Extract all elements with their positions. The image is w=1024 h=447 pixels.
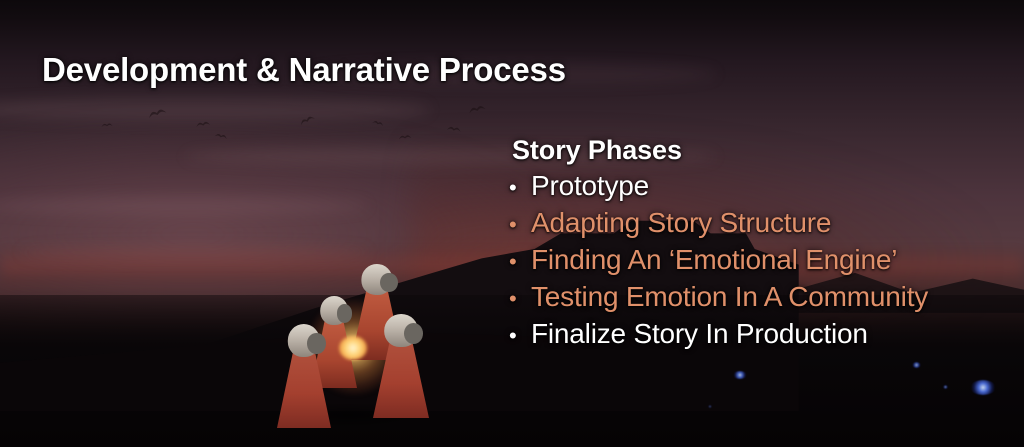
- blue-light-glint: [943, 385, 948, 389]
- cloud-streak: [0, 197, 369, 215]
- story-phases-list: •Prototype•Adapting Story Structure•Find…: [509, 168, 1019, 353]
- figure-face: [337, 304, 353, 322]
- list-item: •Prototype: [509, 168, 1019, 205]
- list-item: •Finalize Story In Production: [509, 316, 1019, 353]
- blue-light-glint: [733, 371, 747, 379]
- figure-face: [307, 333, 325, 354]
- figure-robe: [277, 351, 331, 428]
- figure-robe: [373, 341, 429, 418]
- blue-light-glint: [912, 362, 921, 368]
- list-item: •Finding An ‘Emotional Engine’: [509, 242, 1019, 279]
- list-item: •Testing Emotion In A Community: [509, 279, 1019, 316]
- campfire-flame: [339, 336, 367, 360]
- campfire-scene: [255, 252, 445, 432]
- slide-content: Story Phases •Prototype•Adapting Story S…: [509, 135, 1019, 353]
- bullet-dot-icon: •: [509, 170, 531, 205]
- figure-face: [404, 323, 423, 344]
- bird-icon: [101, 122, 113, 128]
- list-item: •Adapting Story Structure: [509, 205, 1019, 242]
- list-item-label: Finalize Story In Production: [531, 316, 868, 351]
- list-item-label: Testing Emotion In A Community: [531, 279, 928, 314]
- bullet-dot-icon: •: [509, 207, 531, 242]
- blue-light-glint: [708, 405, 712, 408]
- presentation-slide: Development & Narrative Process Story Ph…: [0, 0, 1024, 447]
- list-item-label: Adapting Story Structure: [531, 205, 831, 240]
- robed-figure: [373, 314, 429, 418]
- slide-title: Development & Narrative Process: [42, 51, 566, 89]
- content-subheading: Story Phases: [512, 135, 1019, 166]
- list-item-label: Finding An ‘Emotional Engine’: [531, 242, 897, 277]
- robed-figure: [277, 324, 331, 428]
- bullet-dot-icon: •: [509, 318, 531, 353]
- blue-light-glint: [970, 380, 996, 395]
- list-item-label: Prototype: [531, 168, 649, 203]
- cloud-streak: [0, 98, 430, 120]
- bullet-dot-icon: •: [509, 244, 531, 279]
- bullet-dot-icon: •: [509, 281, 531, 316]
- figure-face: [380, 273, 398, 292]
